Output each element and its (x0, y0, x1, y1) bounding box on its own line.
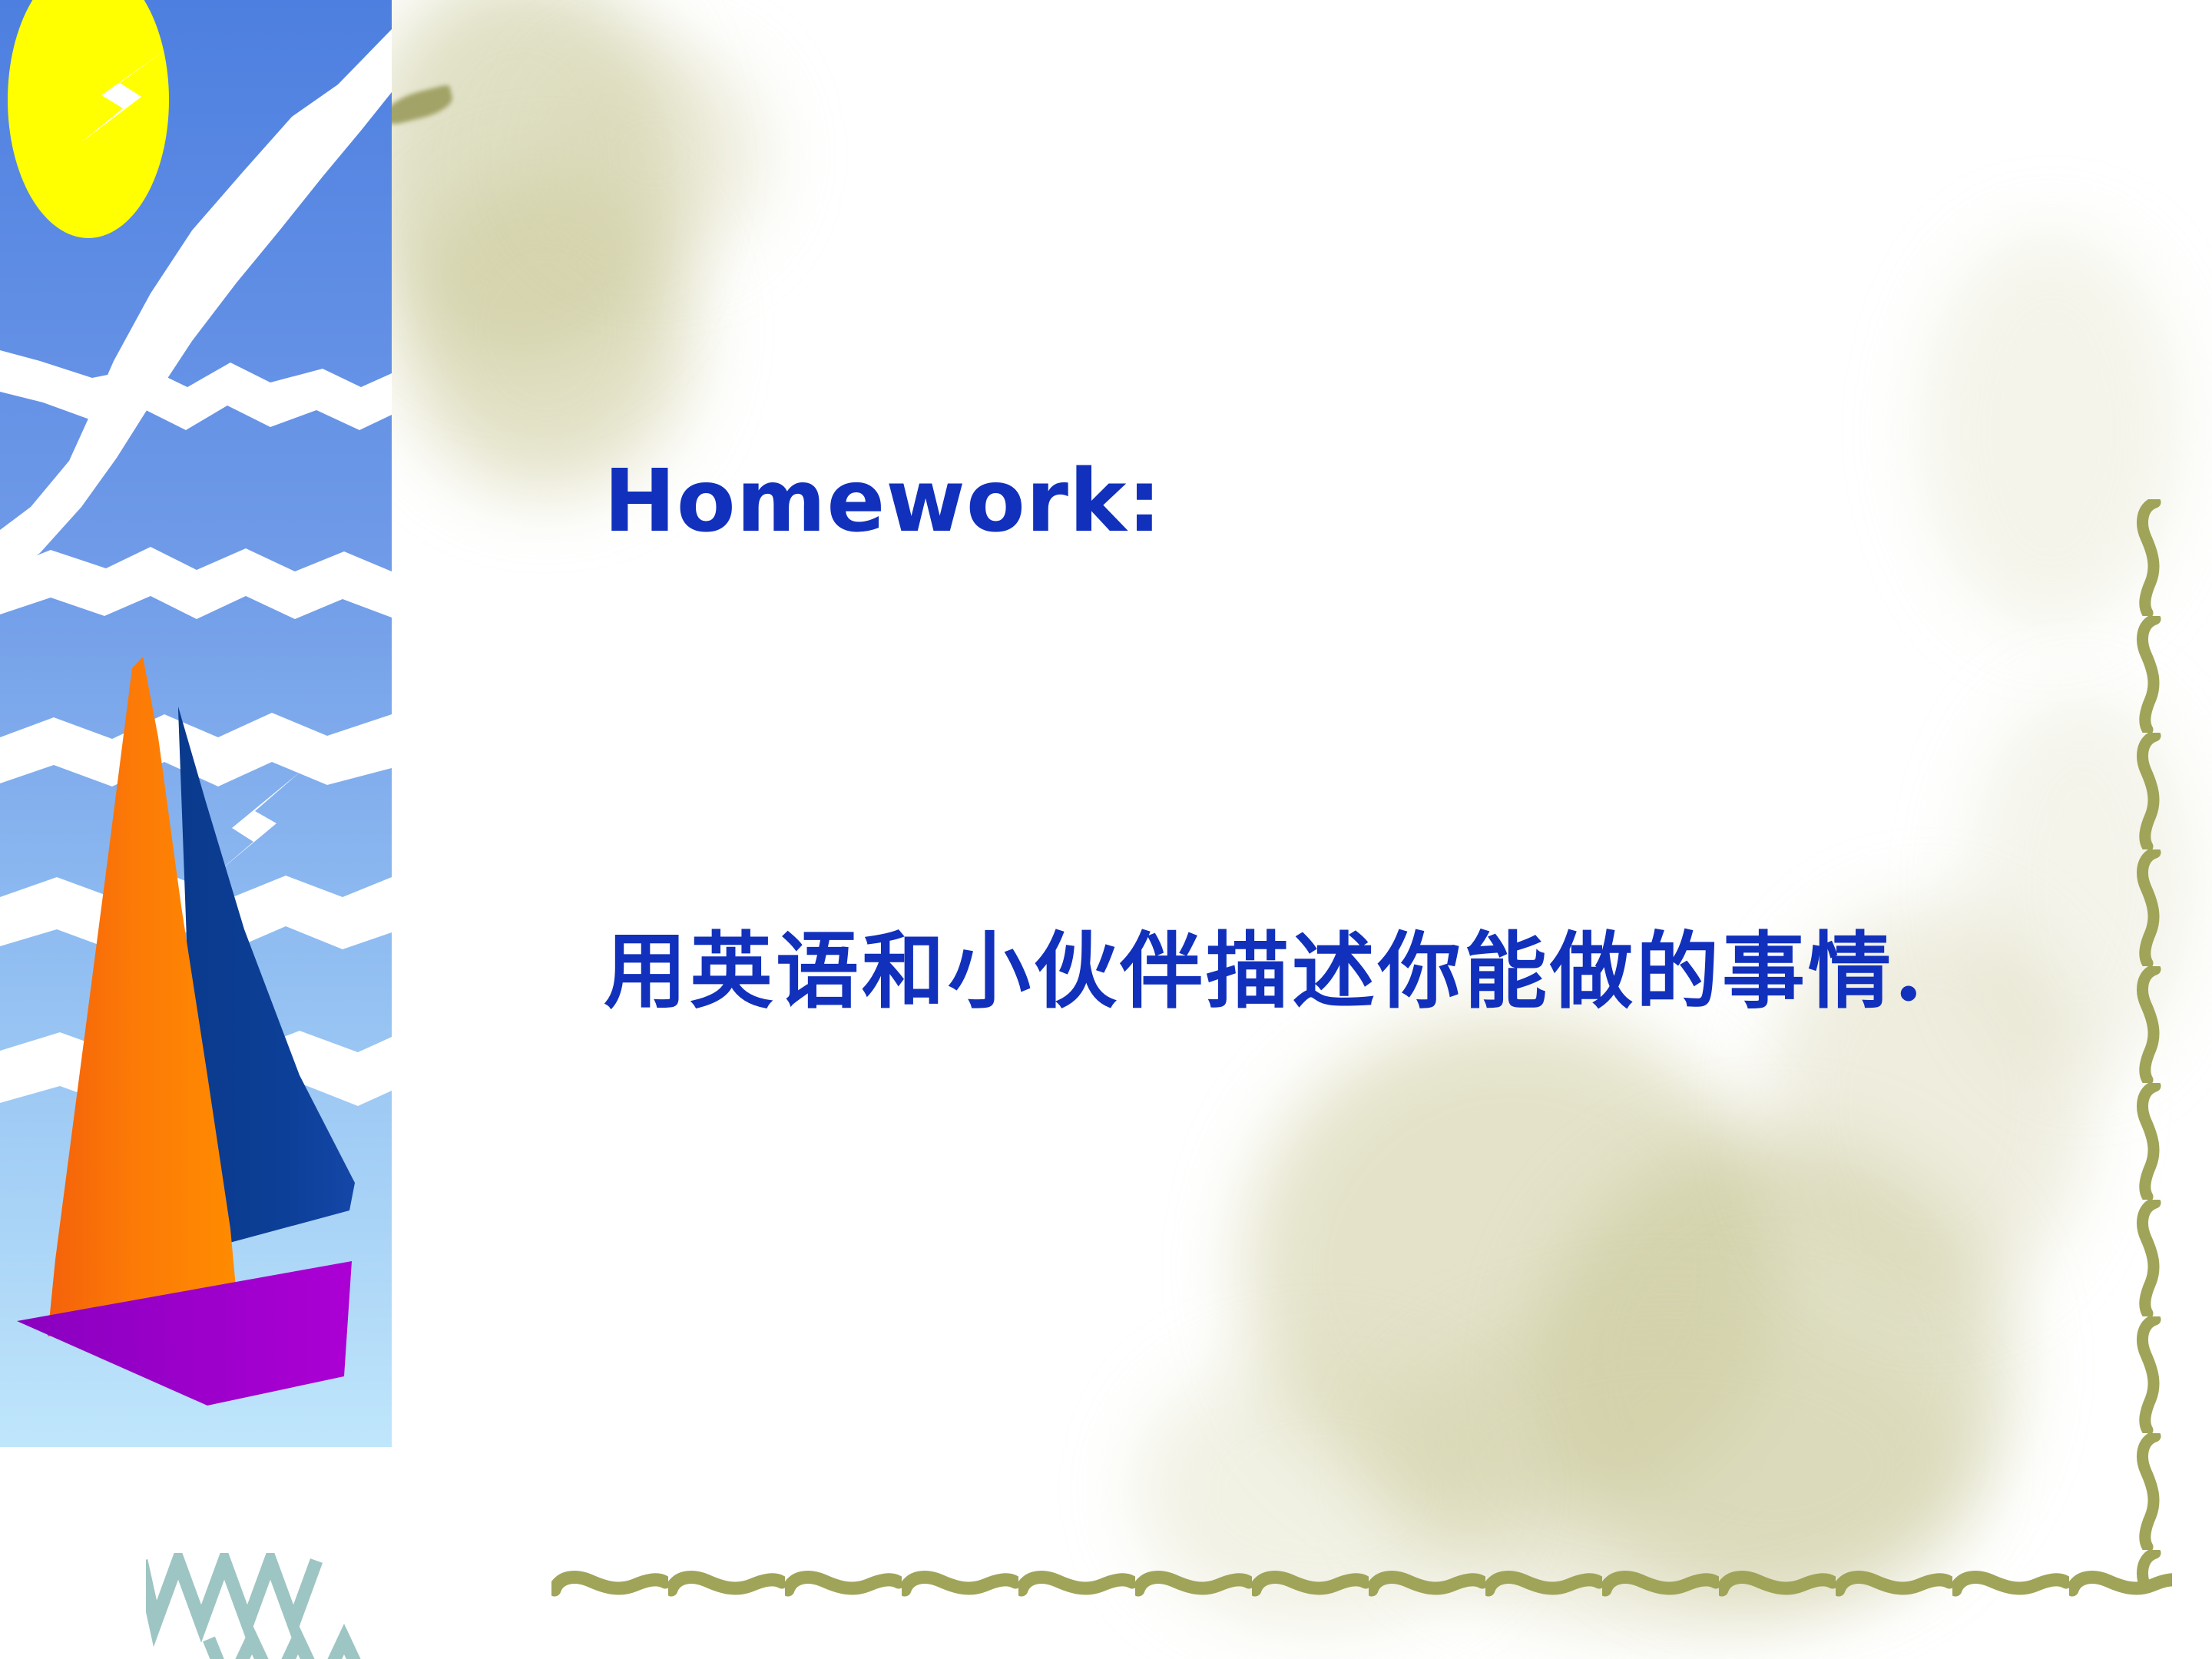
watermark-leaf-icon (382, 84, 455, 127)
presentation-slide: Homework: 用英语和小伙伴描述你能做的事情. (0, 0, 2212, 1659)
watermark-blob-bottom-right-1 (1244, 1014, 1782, 1521)
watermark-blob-bottom-right-2 (1536, 1137, 2012, 1598)
slide-body-text: 用英语和小伙伴描述你能做的事情. (604, 905, 1926, 1025)
olive-chain-border-right (2123, 499, 2174, 1590)
watermark-blob-top-left-1 (361, 0, 684, 369)
watermark-blob-top-left-2 (399, 169, 691, 492)
sailboat-decoration-panel (0, 0, 392, 1447)
water-zigzag-decoration (146, 1553, 469, 1659)
slide-title: Homework: (604, 452, 1162, 551)
olive-chain-border-bottom (551, 1564, 2172, 1607)
watermark-blob-top-left-3 (538, 46, 768, 261)
